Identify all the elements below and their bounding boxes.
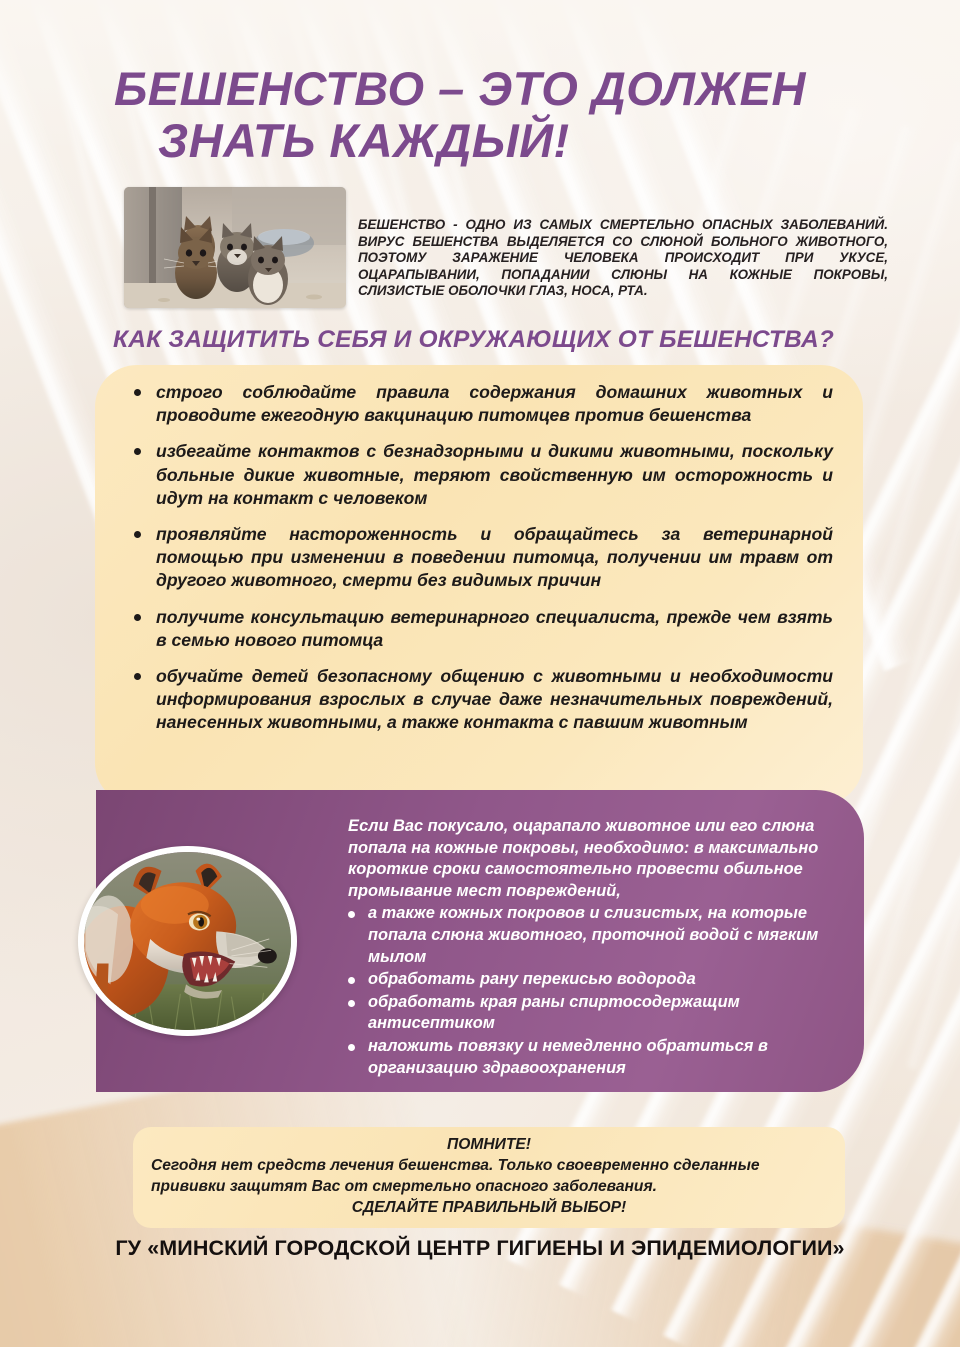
bullet-dot-icon bbox=[348, 911, 355, 918]
list-item: строго соблюдайте правила содержания дом… bbox=[131, 381, 833, 427]
list-item: получите консультацию ветеринарного спец… bbox=[131, 606, 833, 652]
remember-call-to-action: СДЕЛАЙТЕ ПРАВИЛЬНЫЙ ВЫБОР! bbox=[151, 1197, 827, 1218]
bullet-dot-icon bbox=[348, 1044, 355, 1051]
first-aid-item-text: обработать рану перекисью водорода bbox=[368, 970, 696, 988]
remember-title: ПОМНИТЕ! bbox=[151, 1135, 827, 1155]
list-item: обработать рану перекисью водорода bbox=[348, 969, 838, 991]
advice-item-text: проявляйте настороженность и обращайтесь… bbox=[156, 524, 833, 590]
section-question-heading: КАК ЗАЩИТИТЬ СЕБЯ И ОКРУЖАЮЩИХ ОТ БЕШЕНС… bbox=[113, 326, 913, 354]
first-aid-item-text: а также кожных покровов и слизистых, на … bbox=[368, 904, 818, 965]
bullet-dot-icon bbox=[134, 389, 141, 396]
bullet-dot-icon bbox=[134, 614, 141, 621]
list-item: наложить повязку и немедленно обратиться… bbox=[348, 1036, 838, 1079]
bullet-dot-icon bbox=[134, 531, 141, 538]
kittens-photo-art bbox=[124, 187, 346, 308]
bullet-dot-icon bbox=[134, 448, 141, 455]
first-aid-item-text: обработать края раны спиртосодержащим ан… bbox=[368, 993, 740, 1033]
list-item: а также кожных покровов и слизистых, на … bbox=[348, 903, 838, 968]
advice-item-text: обучайте детей безопасному общению с жив… bbox=[156, 666, 833, 732]
fox-photo bbox=[78, 846, 297, 1036]
remember-card: ПОМНИТЕ! Сегодня нет средств лечения беш… bbox=[133, 1127, 845, 1228]
advice-item-text: получите консультацию ветеринарного спец… bbox=[156, 607, 833, 650]
first-aid-body: Если Вас покусало, оцарапало животное ил… bbox=[348, 816, 838, 1080]
prevention-advice-list: строго соблюдайте правила содержания дом… bbox=[131, 381, 833, 735]
kittens-photo bbox=[124, 187, 346, 308]
fox-photo-art bbox=[84, 852, 291, 1032]
bullet-dot-icon bbox=[348, 977, 355, 984]
first-aid-item-text: наложить повязку и немедленно обратиться… bbox=[368, 1037, 768, 1077]
first-aid-list: а также кожных покровов и слизистых, на … bbox=[348, 903, 838, 1079]
bullet-dot-icon bbox=[134, 673, 141, 680]
first-aid-intro: Если Вас покусало, оцарапало животное ил… bbox=[348, 816, 838, 902]
prevention-advice-card: строго соблюдайте правила содержания дом… bbox=[95, 365, 863, 805]
list-item: избегайте контактов с безнадзорными и ди… bbox=[131, 440, 833, 510]
list-item: обработать края раны спиртосодержащим ан… bbox=[348, 992, 838, 1035]
list-item: проявляйте настороженность и обращайтесь… bbox=[131, 523, 833, 593]
title-line-1: БЕШЕНСТВО – ЭТО ДОЛЖЕН bbox=[110, 63, 910, 115]
list-item: обучайте детей безопасному общению с жив… bbox=[131, 665, 833, 735]
remember-body: Сегодня нет средств лечения бешенства. Т… bbox=[151, 1155, 827, 1197]
poster-page: БЕШЕНСТВО – ЭТО ДОЛЖЕН ЗНАТЬ КАЖДЫЙ! bbox=[0, 0, 960, 1347]
intro-paragraph: БЕШЕНСТВО - ОДНО ИЗ САМЫХ СМЕРТЕЛЬНО ОПА… bbox=[358, 217, 888, 300]
bullet-dot-icon bbox=[348, 1000, 355, 1007]
page-title: БЕШЕНСТВО – ЭТО ДОЛЖЕН ЗНАТЬ КАЖДЫЙ! bbox=[110, 63, 910, 167]
advice-item-text: избегайте контактов с безнадзорными и ди… bbox=[156, 441, 833, 507]
advice-item-text: строго соблюдайте правила содержания дом… bbox=[156, 382, 833, 425]
title-line-2: ЗНАТЬ КАЖДЫЙ! bbox=[110, 115, 910, 167]
footer-organization: ГУ «МИНСКИЙ ГОРОДСКОЙ ЦЕНТР ГИГИЕНЫ И ЭП… bbox=[0, 1236, 960, 1261]
